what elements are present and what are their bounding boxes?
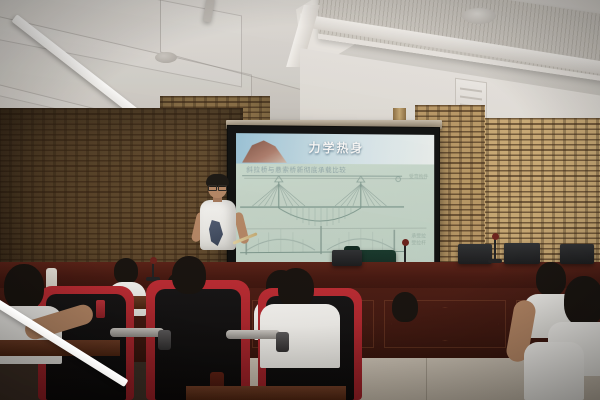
microphone-icon: [152, 262, 154, 278]
smoke-detector-icon: [155, 52, 177, 63]
student-desk: [186, 386, 346, 400]
bridge-force-diagram: [238, 168, 406, 261]
armrest-hinge: [158, 330, 171, 350]
armrest-hinge: [276, 332, 289, 352]
lecture-hall-photo: 力学热身 斜拉桥与悬索桥新彻底承载比较: [0, 0, 600, 400]
student-head: [4, 264, 44, 310]
slide-right-label-1: 受弯构件: [407, 174, 430, 181]
microphone-base: [488, 259, 502, 263]
phone: [96, 300, 105, 318]
slide-right-label-2: 承受拉受拉杆: [407, 234, 430, 247]
microphone-icon: [404, 244, 406, 262]
laptop: [504, 243, 540, 264]
student-head: [536, 262, 566, 296]
microphone-icon: [494, 238, 496, 260]
student-head: [564, 276, 600, 326]
armrest[interactable]: [110, 328, 164, 337]
glasses-icon: [208, 185, 227, 189]
student-head: [392, 292, 418, 322]
laptop: [332, 250, 362, 266]
armrest[interactable]: [226, 330, 280, 339]
ceiling-vent-icon: [462, 8, 496, 24]
student-head: [278, 268, 314, 308]
laptop: [560, 244, 594, 264]
laptop: [458, 244, 492, 264]
student-head: [172, 256, 206, 294]
slide-title: 力学热身: [236, 138, 434, 156]
student-head: [114, 258, 138, 284]
student-body: [524, 342, 584, 400]
presenter: [196, 176, 242, 272]
